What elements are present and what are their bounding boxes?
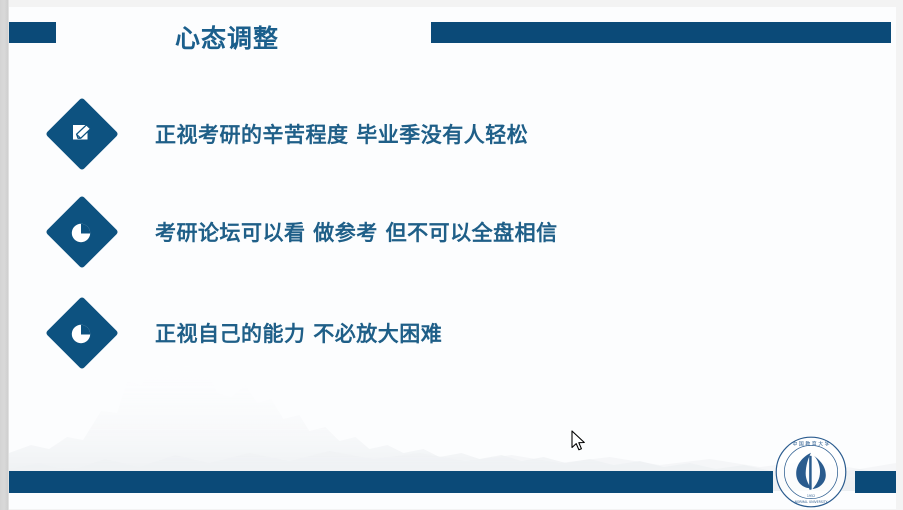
bottom-accent-bar-left bbox=[9, 471, 773, 493]
bullet-item-1: 正视考研的辛苦程度 毕业季没有人轻松 bbox=[47, 98, 528, 170]
bullet-text-2: 考研论坛可以看 做参考 但不可以全盘相信 bbox=[155, 217, 558, 247]
bullet-item-2: 考研论坛可以看 做参考 但不可以全盘相信 bbox=[47, 196, 558, 268]
top-accent-bar-left bbox=[9, 22, 56, 43]
slide-canvas: 心态调整 正视考研的辛苦程度 毕业季没有人轻松 bbox=[9, 7, 896, 509]
pencil-edit-icon bbox=[69, 121, 95, 147]
pie-chart-icon bbox=[69, 320, 95, 346]
bullet-text-3: 正视自己的能力 不必放大困难 bbox=[155, 318, 442, 348]
bullet-icon-diamond-2 bbox=[45, 195, 119, 269]
bullet-icon-diamond-1 bbox=[45, 97, 119, 171]
svg-text:NORMAL UNIVERSITY: NORMAL UNIVERSITY bbox=[795, 500, 828, 504]
university-seal-logo: 中 国 教 育 大 学 NORMAL UNIVERSITY 1952 bbox=[774, 435, 848, 509]
svg-text:中 国 教 育 大 学: 中 国 教 育 大 学 bbox=[793, 440, 830, 447]
svg-text:1952: 1952 bbox=[807, 494, 815, 498]
page-title: 心态调整 bbox=[175, 19, 279, 55]
bullet-icon-diamond-3 bbox=[45, 296, 119, 370]
pie-chart-icon bbox=[69, 219, 95, 245]
presentation-slide-frame: 心态调整 正视考研的辛苦程度 毕业季没有人轻松 bbox=[0, 0, 903, 510]
bottom-accent-bar-right bbox=[855, 471, 896, 493]
mouse-pointer-cursor bbox=[571, 430, 587, 454]
bullet-item-3: 正视自己的能力 不必放大困难 bbox=[47, 297, 442, 369]
top-accent-bar-right bbox=[431, 22, 891, 43]
bullet-text-1: 正视考研的辛苦程度 毕业季没有人轻松 bbox=[155, 119, 528, 149]
